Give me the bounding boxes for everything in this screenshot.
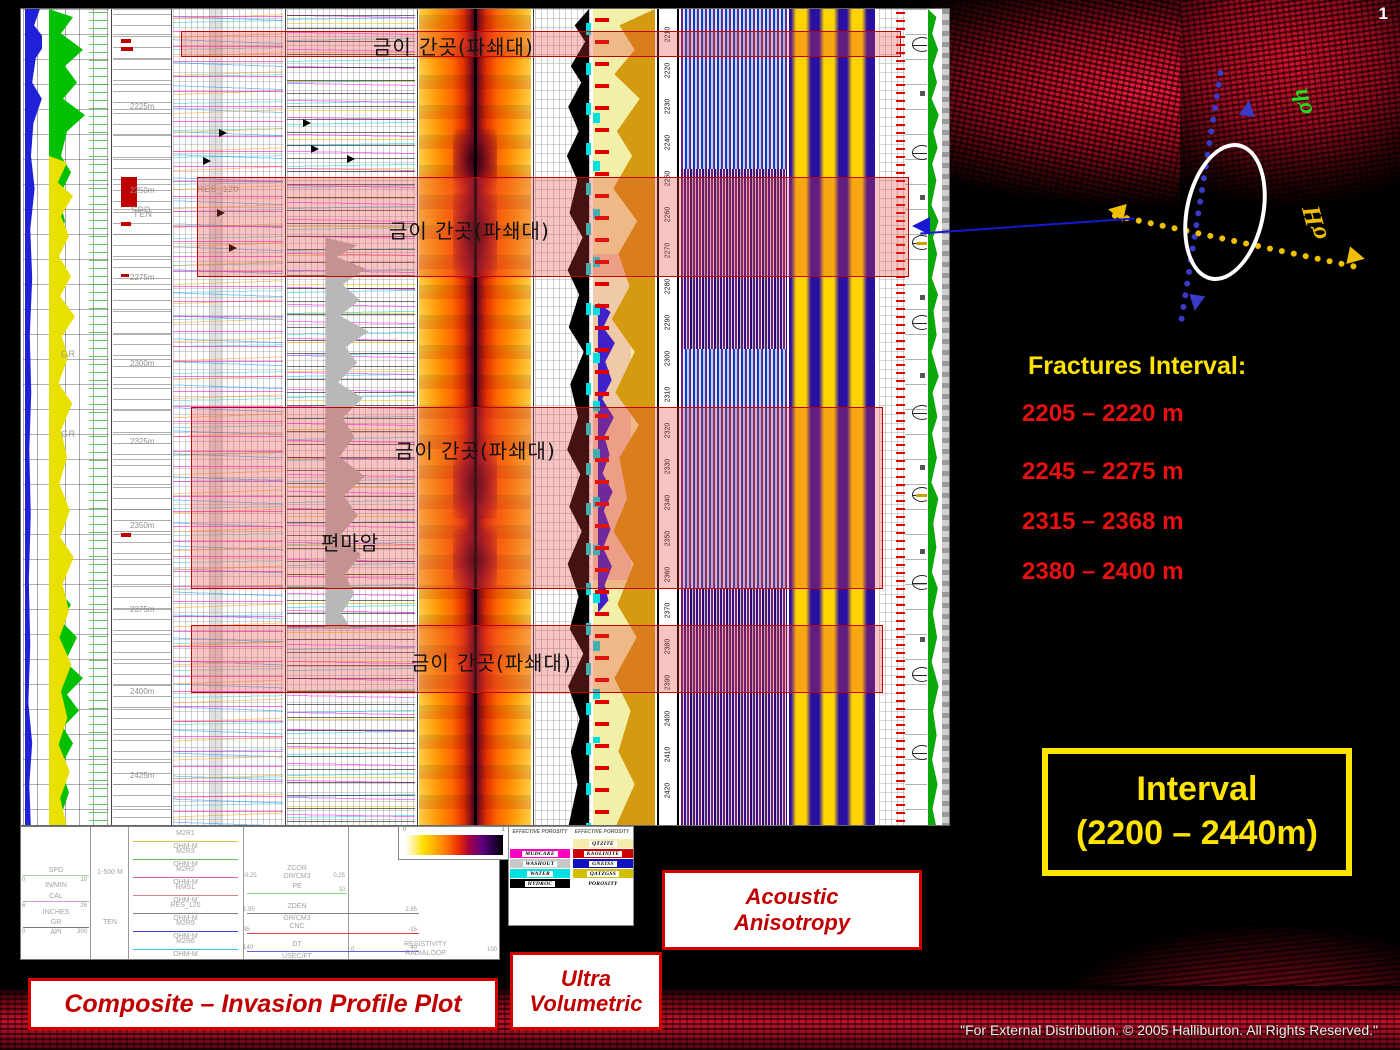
depth-scale-number: 2210 xyxy=(665,27,672,43)
legend-chip: POROSITY xyxy=(573,879,633,888)
depth-scale-number: 2270 xyxy=(665,243,672,259)
depth-scale-number: 2360 xyxy=(665,567,672,583)
invasion-colorbar xyxy=(405,835,503,855)
legend-label: POROSITY xyxy=(585,881,620,887)
header-units-m2r6: OHM-M xyxy=(133,951,238,958)
depth-scale-number: 2240 xyxy=(665,135,672,151)
sigma-H-label: σH xyxy=(1296,203,1334,244)
dip-marker-icon xyxy=(920,91,925,96)
header-label-m2r2: M2R2 xyxy=(133,866,238,873)
legend-chip: MUDCAKE xyxy=(510,849,570,858)
legend-label: WATER xyxy=(527,871,553,877)
header-min-resistivity: 0 xyxy=(351,947,354,953)
fracture-interval-item-3: 2315 – 2368 m xyxy=(1022,508,1183,536)
colorbar-min-label: 0 xyxy=(403,827,406,833)
invasion-colorbar-panel: 0 1 xyxy=(398,826,510,860)
legend-chip: KAOLINITE xyxy=(573,849,633,858)
depth-marker xyxy=(121,222,131,226)
legend-label: GNEISS xyxy=(589,861,617,867)
header-label-cnc: CNC xyxy=(247,923,347,930)
header-line-m2r6 xyxy=(133,949,238,950)
legend-chip: GNEISS xyxy=(573,859,633,868)
depth-label: 2375m xyxy=(130,605,154,614)
depth-scale-number: 2330 xyxy=(665,459,672,475)
header-label-spd: SPD xyxy=(23,867,89,874)
header-line-gr xyxy=(23,927,89,928)
legend-label: QATZGSS xyxy=(587,871,619,877)
track-separator-2 xyxy=(171,9,172,825)
header-units-zden: GR/CM3 xyxy=(247,915,347,922)
header-units-resistivity: RADIALOOP xyxy=(353,950,498,957)
header-line-zden xyxy=(247,913,419,914)
dip-marker-icon xyxy=(920,295,925,300)
fracture-interval-item-1: 2205 – 2220 m xyxy=(1022,400,1183,428)
depth-scale-number: 2340 xyxy=(665,495,672,511)
callout-acoustic-anisotropy[interactable]: Acoustic Anisotropy xyxy=(662,870,922,950)
interval-line2: (2200 – 2440m) xyxy=(1076,812,1318,856)
pointer-line xyxy=(920,218,1135,235)
annotation-fracture-zone-1: 금이 간곳(파쇄대) xyxy=(373,31,534,60)
legend-item-kaolinite: KAOLINITE xyxy=(573,849,633,858)
curve-tension xyxy=(113,9,171,825)
callout-label-line2: Anisotropy xyxy=(734,910,850,936)
legend-header-left: EFFECTIVE POROSITY xyxy=(509,829,571,835)
colorbar-max-label: 1 xyxy=(502,827,505,833)
legend-chip: HYDROC xyxy=(510,879,570,888)
curve-fill-water xyxy=(586,9,591,825)
header-line-pe xyxy=(247,893,347,894)
borehole-wall-shading xyxy=(942,9,949,825)
legend-item-mudcake: MUDCAKE xyxy=(510,849,570,858)
depth-label: 2250m xyxy=(130,186,154,195)
page-number: 1 xyxy=(1379,4,1388,24)
fracture-interval-item-2: 2245 – 2275 m xyxy=(1022,458,1183,486)
dip-marker-icon xyxy=(920,549,925,554)
header-label-pe: PE xyxy=(247,883,347,890)
depth-scale-number: 2300 xyxy=(665,351,672,367)
header-line-m2r9 xyxy=(133,931,238,932)
stress-orientation-diagram: σh σH xyxy=(1130,80,1370,320)
track-caliper-green xyxy=(927,9,949,825)
callout-label: Composite – Invasion Profile Plot xyxy=(64,990,461,1019)
legend-item-qatzgss: QATZGSS xyxy=(573,869,633,878)
depth-marker xyxy=(121,47,133,51)
depth-scale-number: 2310 xyxy=(665,387,672,403)
depth-marker xyxy=(121,274,129,277)
borehole-axis-line xyxy=(474,9,477,825)
callout-composite-invasion-profile[interactable]: Composite – Invasion Profile Plot xyxy=(28,978,498,1030)
legend-item-washout: WASHOUT xyxy=(510,859,570,868)
annotation-fracture-zone-3: 금이 간곳(파쇄대) xyxy=(395,435,556,464)
arrowhead-up-icon xyxy=(1239,99,1257,117)
depth-label: 2225m xyxy=(130,102,154,111)
track-porosity-spikes xyxy=(535,9,591,825)
track-invasion-curves xyxy=(287,9,415,825)
depth-scale-number: 2380 xyxy=(665,639,672,655)
callout-label-line1: Acoustic xyxy=(734,884,850,910)
legend-chip: WATER xyxy=(510,869,570,878)
track-resistivity-array: RES_120 xyxy=(173,9,283,825)
header-line-m2r3 xyxy=(133,859,238,860)
depth-label: 2400m xyxy=(130,687,154,696)
legend-item-hydroc: HYDROC xyxy=(510,879,570,888)
header-line-m2r2 xyxy=(133,877,238,878)
header-label-zcor: ZCOR xyxy=(247,865,347,872)
track-label-gr-2: GR xyxy=(61,429,76,439)
callout-ultra-volumetric[interactable]: Ultra Volumetric xyxy=(510,952,662,1030)
anisotropy-band xyxy=(791,9,811,825)
header-label-zden: ZDEN xyxy=(247,903,347,910)
callout-label-wrapper: Ultra Volumetric xyxy=(530,966,643,1017)
legend-label: QTZITE xyxy=(589,841,617,847)
depth-scale-number: 2280 xyxy=(665,279,672,295)
track-separator-4 xyxy=(417,9,418,825)
track-separator-3 xyxy=(285,9,286,825)
fracture-interval-item-4: 2380 – 2400 m xyxy=(1022,558,1183,586)
legend-label: MUDCAKE xyxy=(522,851,558,857)
depth-scale-number: 2250 xyxy=(665,171,672,187)
header-label-m2r6: M2R6 xyxy=(133,938,238,945)
depth-scale-number: 2230 xyxy=(665,99,672,115)
legend-chip: QATZGSS xyxy=(573,869,633,878)
header-min-cnc: 45 xyxy=(243,927,250,933)
curve-bundle xyxy=(287,9,415,825)
depth-scale-number: 2410 xyxy=(665,747,672,763)
depth-label: 2300m xyxy=(130,359,154,368)
header-label-m2r9: M2R9 xyxy=(133,920,238,927)
depth-label: 2350m xyxy=(130,521,154,530)
header-label-resistivity: RESISTIVITY xyxy=(353,941,498,948)
header-line-spd xyxy=(23,875,89,876)
sigma-h-label: σh xyxy=(1287,85,1320,117)
track-acoustic-waveform-vdl xyxy=(681,9,787,825)
volume-kaolinite xyxy=(595,9,609,825)
header-label-res120: RES_120 xyxy=(133,902,238,909)
well-log-composite-panel: GR GR SPD TEN 2225m 2250m 2275m 2300m 23… xyxy=(20,8,950,826)
header-min-zden: 1.95 xyxy=(243,907,255,913)
header-range-ten: 1-500 M xyxy=(91,869,129,876)
depth-marker xyxy=(121,39,131,43)
depth-scale-number: 2370 xyxy=(665,603,672,619)
callout-label-line2: Volumetric xyxy=(530,991,643,1016)
header-line-rmsl xyxy=(133,895,238,896)
header-units-cal: IN/MIN xyxy=(23,882,89,889)
slide-root: 1 GR GR SPD TEN 2225m 2250m xyxy=(0,0,1400,1050)
legend-label: WASHOUT xyxy=(523,861,558,867)
annotation-arrow xyxy=(217,209,225,217)
track-tension-depth: SPD TEN 2225m 2250m 2275m 2300m 2325m 23… xyxy=(113,9,171,825)
header-label-rmsl: RMSL xyxy=(133,884,238,891)
header-label-m2r3: M2R3 xyxy=(133,848,238,855)
track-acoustic-anisotropy-image xyxy=(789,9,875,825)
curve-spd xyxy=(89,9,107,825)
track-separator-1 xyxy=(111,9,112,825)
header-units-gr: API xyxy=(23,929,89,936)
track-invasion-profile-image xyxy=(419,9,531,825)
volumetric-legend-panel: EFFECTIVE POROSITY EFFECTIVE POROSITY MU… xyxy=(508,826,634,926)
legend-chip: WASHOUT xyxy=(510,859,570,868)
header-label-inches: INCHES xyxy=(23,909,89,916)
dip-marker-icon xyxy=(920,465,925,470)
legend-item-gneiss: GNEISS xyxy=(573,859,633,868)
header-label-gr: GR xyxy=(23,919,89,926)
legend-label: HYDROC xyxy=(525,881,556,887)
header-max-pe: 10 xyxy=(338,887,345,893)
anisotropy-band xyxy=(819,9,839,825)
track-label-gr-1: GR xyxy=(61,349,76,359)
depth-scale-strip: 2210 2220 2230 2240 2250 2260 2270 2280 … xyxy=(657,9,679,825)
interval-summary-box: Interval (2200 – 2440m) xyxy=(1042,748,1352,876)
annotation-arrow xyxy=(203,157,211,165)
header-min-dt: 140 xyxy=(243,945,253,951)
track-label-ten: TEN xyxy=(133,209,153,219)
header-line-m2r1 xyxy=(133,841,238,842)
legend-header-right: EFFECTIVE POROSITY xyxy=(571,829,633,835)
depth-scale-number: 2400 xyxy=(665,711,672,727)
waveform-image-light xyxy=(681,349,787,589)
dip-marker-icon xyxy=(920,637,925,642)
fractures-interval-title: Fractures Interval: xyxy=(1028,352,1246,381)
depth-scale-number: 2320 xyxy=(665,423,672,439)
depth-label: 2425m xyxy=(130,771,154,780)
legend-label: KAOLINITE xyxy=(584,851,623,857)
header-label-dt: DT xyxy=(247,941,347,948)
annotation-arrow xyxy=(229,244,237,252)
header-min-zcor: -0.25 xyxy=(243,873,257,879)
annotation-fracture-zone-4: 금이 간곳(파쇄대) xyxy=(411,647,572,676)
header-line-cal xyxy=(23,901,89,902)
callout-label-line1: Ultra xyxy=(530,966,643,991)
legend-item-porosity: POROSITY xyxy=(573,879,633,888)
header-line-res120 xyxy=(133,913,238,914)
depth-scale-number: 2350 xyxy=(665,531,672,547)
header-max-resistivity: 100 xyxy=(487,947,497,953)
interval-line1: Interval xyxy=(1137,768,1258,812)
annotation-fracture-zone-2: 금이 간곳(파쇄대) xyxy=(389,215,550,244)
depth-scale-number: 2420 xyxy=(665,783,672,799)
depth-label: 2275m xyxy=(130,273,154,282)
header-label-m2r1: M2R1 xyxy=(133,830,238,837)
annotation-gneiss: 편마암 xyxy=(321,527,379,556)
annotation-arrow xyxy=(303,119,311,127)
depth-scale-number: 2260 xyxy=(665,207,672,223)
header-max-zden: 2.95 xyxy=(405,907,417,913)
curve-resistivity-array xyxy=(173,9,283,825)
depth-marker xyxy=(121,533,131,537)
depth-scale-number: 2290 xyxy=(665,315,672,331)
legend-item-qtzite: QTZITE xyxy=(573,839,633,848)
legend-chip: QTZITE xyxy=(573,839,633,848)
dip-marker-icon xyxy=(920,195,925,200)
header-label-ten: TEN xyxy=(91,919,129,926)
header-label-cal: CAL xyxy=(23,893,89,900)
depth-scale-number: 2390 xyxy=(665,675,672,691)
annotation-arrow xyxy=(311,145,319,153)
track-ultra-volumetric xyxy=(593,9,655,825)
arrowhead-right-icon xyxy=(1346,246,1366,267)
waveform-image-light xyxy=(681,9,787,169)
depth-label: 2325m xyxy=(130,437,154,446)
callout-label-wrapper: Acoustic Anisotropy xyxy=(734,884,850,937)
header-line-cnc xyxy=(247,933,419,934)
copyright-notice: "For External Distribution. © 2005 Halli… xyxy=(960,1022,1378,1038)
legend-item-water: WATER xyxy=(510,869,570,878)
track-label-res: RES_120 xyxy=(197,184,239,194)
annotation-arrow xyxy=(347,155,355,163)
depth-scale-number: 2220 xyxy=(665,63,672,79)
dip-marker-icon xyxy=(920,373,925,378)
annotation-arrow xyxy=(219,129,227,137)
header-col-2 xyxy=(91,827,129,959)
header-units-zcor: GR/CM3 xyxy=(247,873,347,880)
header-max-cnc: -15 xyxy=(408,927,417,933)
header-max-zcor: 0.25 xyxy=(333,873,345,879)
curve-fill-green xyxy=(928,9,940,825)
pointer-arrowhead-icon xyxy=(912,217,930,235)
track-gamma-ray: GR GR xyxy=(23,9,109,825)
anisotropy-band xyxy=(847,9,867,825)
arrowhead-down-icon xyxy=(1187,294,1205,312)
header-units-dt: USEC/FT xyxy=(247,953,347,960)
track-separator-5 xyxy=(533,9,534,825)
